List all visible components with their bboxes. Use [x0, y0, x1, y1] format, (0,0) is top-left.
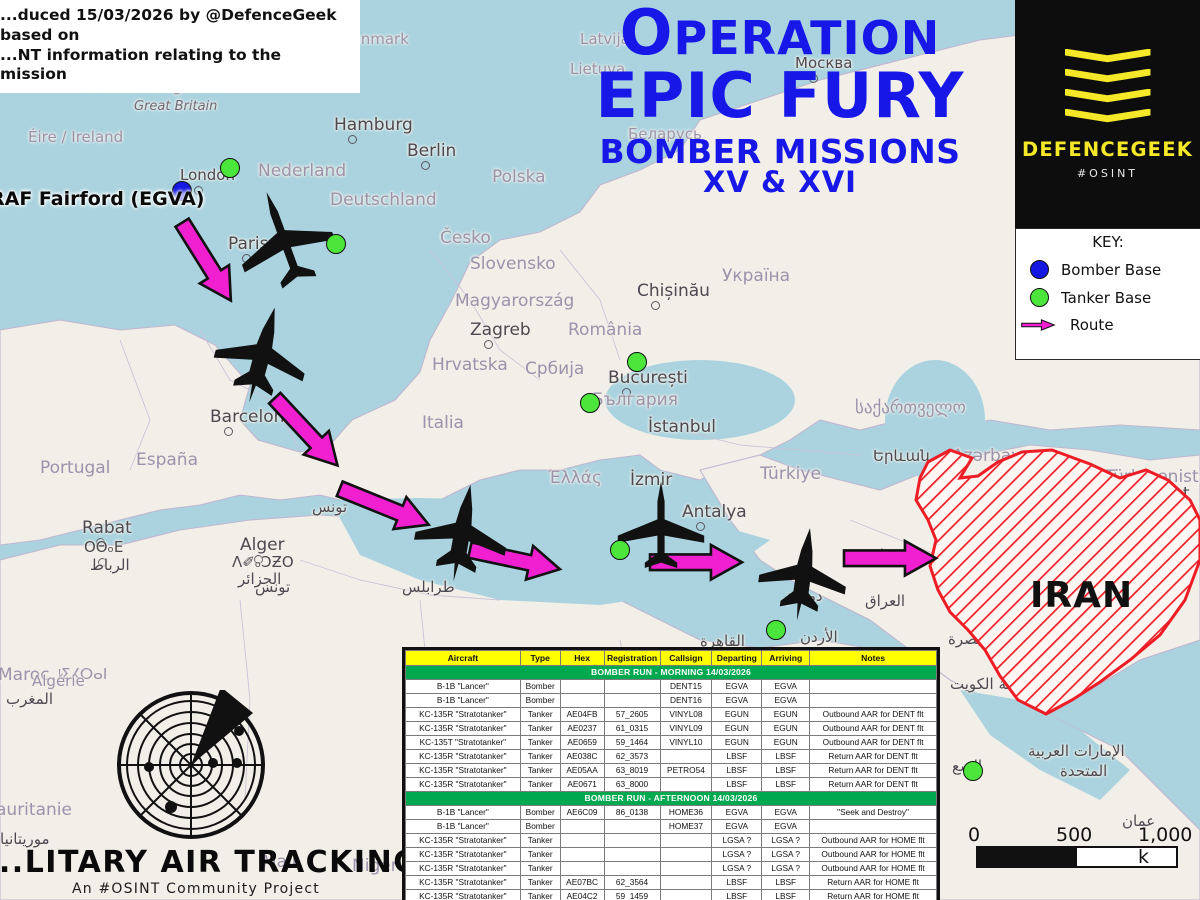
table-row[interactable]: KC-135T "Stratotanker"TankerAE065959_146… [406, 736, 937, 750]
table-cell [560, 680, 604, 694]
table-header-row: AircraftTypeHexRegistrationCallsignDepar… [406, 651, 937, 666]
table-cell: LBSF [712, 750, 762, 764]
table-cell: 62_3573 [604, 750, 660, 764]
table-cell: KC-135R "Stratotanker" [406, 778, 521, 792]
table-cell: Bomber [520, 806, 560, 820]
table-cell: LBSF [762, 890, 810, 900]
chevron-icon [1065, 69, 1151, 84]
table-cell: Tanker [520, 736, 560, 750]
tanker-base-marker[interactable] [627, 352, 647, 372]
table-col-header: Aircraft [406, 651, 521, 666]
table-cell: KC-135T "Stratotanker" [406, 736, 521, 750]
table-row[interactable]: KC-135R "Stratotanker"TankerAE04FB57_260… [406, 708, 937, 722]
mata-banner: ...LITARY AIR TRACKING ALLIANCE An #OSIN… [0, 845, 406, 897]
key-item-label: Tanker Base [1061, 289, 1151, 307]
table-cell: KC-135R "Stratotanker" [406, 750, 521, 764]
table-cell: Bomber [520, 820, 560, 834]
page-title: OPERATION EPIC FURY BOMBER MISSIONS XV &… [520, 4, 1040, 197]
table-cell [604, 834, 660, 848]
table-cell: Outbound AAR for DENT flt [810, 736, 937, 750]
scale-bar-filled [978, 848, 1077, 866]
table-cell: EGVA [762, 680, 810, 694]
table-cell: LBSF [712, 778, 762, 792]
table-cell: LBSF [712, 876, 762, 890]
map-key: KEY: Bomber BaseTanker BaseRoute [1015, 228, 1200, 360]
table-cell: 57_2605 [604, 708, 660, 722]
scale-tick-0: 0 [968, 824, 980, 846]
table-cell: Tanker [520, 862, 560, 876]
mission-table-wrapper[interactable]: AircraftTypeHexRegistrationCallsignDepar… [402, 647, 940, 900]
table-cell: AE038C [560, 750, 604, 764]
table-cell: Tanker [520, 848, 560, 862]
raf-fairford-label: RAF Fairford (EGVA) [0, 188, 204, 210]
table-cell [660, 862, 712, 876]
table-cell [604, 848, 660, 862]
table-cell: AE04C2 [560, 890, 604, 900]
table-cell: Tanker [520, 890, 560, 900]
table-cell: Return AAR for HOME flt [810, 876, 937, 890]
table-cell: B-1B "Lancer" [406, 694, 521, 708]
title-line-1-rest: PERATION [674, 11, 941, 65]
key-item-3: Route [1030, 316, 1200, 334]
table-cell: EGUN [712, 708, 762, 722]
table-cell: 62_3564 [604, 876, 660, 890]
tanker-aircraft-icon [616, 478, 706, 577]
table-row[interactable]: B-1B "Lancer"BomberDENT16EGVAEGVA [406, 694, 937, 708]
table-cell [810, 694, 937, 708]
table-cell: Bomber [520, 680, 560, 694]
table-cell [560, 820, 604, 834]
table-cell: LGSA ? [712, 848, 762, 862]
title-line-1: OPERATION [520, 4, 1040, 63]
table-cell: EGUN [762, 736, 810, 750]
table-cell: 59_1464 [604, 736, 660, 750]
scale-tick-2: 1,000 k [1138, 824, 1200, 868]
key-item-1: Bomber Base [1030, 260, 1200, 279]
table-row[interactable]: KC-135R "Stratotanker"TankerLGSA ?LGSA ?… [406, 848, 937, 862]
credit-line-2: ...NT information relating to the missio… [0, 46, 352, 86]
table-cell [810, 680, 937, 694]
table-cell [560, 834, 604, 848]
table-cell [660, 876, 712, 890]
chevron-icon [1065, 49, 1151, 64]
radar-scope-icon [96, 690, 286, 840]
table-cell: LBSF [762, 764, 810, 778]
key-item-label: Bomber Base [1061, 261, 1161, 279]
table-cell: B-1B "Lancer" [406, 806, 521, 820]
scale-tick-1: 500 [1056, 824, 1092, 846]
table-cell: "Seek and Destroy" [810, 806, 937, 820]
table-cell: LBSF [712, 764, 762, 778]
table-cell: LBSF [762, 778, 810, 792]
tanker-base-marker[interactable] [766, 620, 786, 640]
table-cell: EGUN [712, 736, 762, 750]
key-item-label: Route [1070, 316, 1114, 334]
table-cell: Tanker [520, 778, 560, 792]
table-col-header: Hex [560, 651, 604, 666]
table-cell: KC-135R "Stratotanker" [406, 764, 521, 778]
logo-sub-text: #OSINT [1077, 167, 1138, 180]
title-line-4: XV & XVI [520, 169, 1040, 197]
bomber-aircraft-icon [403, 470, 521, 596]
table-cell: Tanker [520, 876, 560, 890]
route-arrow-icon [1018, 319, 1058, 331]
table-cell: Outbound AAR for HOME flt [810, 834, 937, 848]
iran-country-label: IRAN [1030, 575, 1133, 616]
table-cell: Tanker [520, 708, 560, 722]
table-cell: 86_0138 [604, 806, 660, 820]
table-cell: KC-135R "Stratotanker" [406, 862, 521, 876]
table-cell: Outbound AAR for DENT flt [810, 708, 937, 722]
table-cell: VINYL10 [660, 736, 712, 750]
table-cell: LBSF [762, 750, 810, 764]
table-cell [604, 680, 660, 694]
mata-subtitle: An #OSINT Community Project [72, 881, 406, 897]
table-cell: 61_0315 [604, 722, 660, 736]
table-cell: AE07BC [560, 876, 604, 890]
table-row[interactable]: B-1B "Lancer"BomberAE6C0986_0138HOME36EG… [406, 806, 937, 820]
table-row[interactable]: B-1B "Lancer"BomberDENT15EGVAEGVA [406, 680, 937, 694]
title-line-3: BOMBER MISSIONS [520, 136, 1040, 167]
table-cell: LBSF [762, 876, 810, 890]
table-cell [660, 890, 712, 900]
table-cell [604, 694, 660, 708]
table-cell [810, 820, 937, 834]
bomber-base-dot-icon [1030, 260, 1049, 279]
table-cell: KC-135R "Stratotanker" [406, 834, 521, 848]
credit-line-1: ...duced 15/03/2026 by @DefenceGeek base… [0, 6, 352, 46]
table-cell [560, 694, 604, 708]
table-cell: LGSA ? [762, 862, 810, 876]
table-cell [660, 750, 712, 764]
table-row[interactable]: KC-135R "Stratotanker"TankerAE05AA63_801… [406, 764, 937, 778]
tanker-base-dot-icon [1030, 288, 1049, 307]
table-section-header-row: BOMBER RUN - AFTERNOON 14/03/2026 [406, 792, 937, 806]
table-cell: LGSA ? [712, 834, 762, 848]
infographic-root: Éire / IrelandUnited KingdomGreat Britai… [0, 0, 1200, 900]
table-row[interactable]: KC-135R "Stratotanker"TankerAE07BC62_356… [406, 876, 937, 890]
table-cell: Return AAR for HOME flt [810, 890, 937, 900]
table-cell: Tanker [520, 722, 560, 736]
table-section-title: BOMBER RUN - AFTERNOON 14/03/2026 [406, 792, 937, 806]
table-col-header: Arriving [762, 651, 810, 666]
table-row[interactable]: KC-135R "Stratotanker"TankerAE038C62_357… [406, 750, 937, 764]
table-row[interactable]: KC-135R "Stratotanker"TankerLGSA ?LGSA ?… [406, 834, 937, 848]
table-cell: EGVA [712, 806, 762, 820]
tanker-base-marker[interactable] [220, 158, 240, 178]
key-rows: Bomber BaseTanker BaseRoute [1016, 260, 1200, 334]
table-cell: KC-135R "Stratotanker" [406, 876, 521, 890]
table-cell: EGUN [712, 722, 762, 736]
scale-ticks: 0 500 1,000 k [950, 824, 1200, 846]
table-row[interactable]: KC-135R "Stratotanker"TankerAE067163_800… [406, 778, 937, 792]
table-cell: 59_1459 [604, 890, 660, 900]
table-col-header: Departing [712, 651, 762, 666]
table-cell: KC-135R "Stratotanker" [406, 890, 521, 900]
table-cell: DENT15 [660, 680, 712, 694]
table-cell: VINYL09 [660, 722, 712, 736]
table-cell: EGVA [712, 820, 762, 834]
table-cell: HOME36 [660, 806, 712, 820]
table-section-title: BOMBER RUN - MORNING 14/03/2026 [406, 666, 937, 680]
table-col-header: Notes [810, 651, 937, 666]
table-cell: Return AAR for DENT flt [810, 750, 937, 764]
table-cell: Outbound AAR for DENT flt [810, 722, 937, 736]
table-cell: AE0237 [560, 722, 604, 736]
table-cell: EGUN [762, 708, 810, 722]
table-row[interactable]: KC-135R "Stratotanker"TankerAE023761_031… [406, 722, 937, 736]
table-cell: 63_8019 [604, 764, 660, 778]
chevron-icon [1065, 109, 1151, 124]
logo-brand-text: DEFENCEGEEK [1022, 138, 1193, 161]
table-cell: LGSA ? [762, 834, 810, 848]
mission-table-body: BOMBER RUN - MORNING 14/03/2026B-1B "Lan… [406, 666, 937, 900]
table-cell: AE0671 [560, 778, 604, 792]
key-item-2: Tanker Base [1030, 288, 1200, 307]
tanker-base-marker[interactable] [610, 540, 630, 560]
table-cell: B-1B "Lancer" [406, 680, 521, 694]
table-cell: VINYL08 [660, 708, 712, 722]
table-cell: Bomber [520, 694, 560, 708]
tanker-base-marker[interactable] [580, 393, 600, 413]
table-cell: AE6C09 [560, 806, 604, 820]
table-cell: EGVA [712, 694, 762, 708]
table-cell: EGVA [762, 820, 810, 834]
table-cell: LGSA ? [762, 848, 810, 862]
table-cell [660, 834, 712, 848]
table-cell [560, 848, 604, 862]
table-cell [604, 862, 660, 876]
chevron-icon [1065, 89, 1151, 104]
table-cell: Tanker [520, 750, 560, 764]
key-title: KEY: [1016, 233, 1200, 251]
table-cell [560, 862, 604, 876]
table-cell: EGUN [762, 722, 810, 736]
table-row[interactable]: KC-135R "Stratotanker"TankerAE04C259_145… [406, 890, 937, 900]
table-cell: 63_8000 [604, 778, 660, 792]
table-cell: PETRO54 [660, 764, 712, 778]
table-row[interactable]: KC-135R "Stratotanker"TankerLGSA ?LGSA ?… [406, 862, 937, 876]
table-cell: AE04FB [560, 708, 604, 722]
table-cell: Return AAR for DENT flt [810, 778, 937, 792]
table-cell: AE05AA [560, 764, 604, 778]
table-cell: LGSA ? [712, 862, 762, 876]
table-cell [660, 848, 712, 862]
table-cell: HOME37 [660, 820, 712, 834]
table-cell [660, 778, 712, 792]
credit-banner: ...duced 15/03/2026 by @DefenceGeek base… [0, 0, 360, 93]
tanker-base-marker[interactable] [326, 234, 346, 254]
table-cell: KC-135R "Stratotanker" [406, 708, 521, 722]
table-cell: DENT16 [660, 694, 712, 708]
table-cell: Tanker [520, 764, 560, 778]
tanker-base-marker[interactable] [963, 761, 983, 781]
table-cell: AE0659 [560, 736, 604, 750]
defencegeek-logo: DEFENCEGEEK #OSINT [1015, 0, 1200, 228]
table-cell: KC-135R "Stratotanker" [406, 722, 521, 736]
mission-table-head: AircraftTypeHexRegistrationCallsignDepar… [406, 651, 937, 666]
table-col-header: Type [520, 651, 560, 666]
mata-title: ...LITARY AIR TRACKING ALLIANCE [0, 845, 406, 880]
table-cell: LBSF [712, 890, 762, 900]
table-cell: B-1B "Lancer" [406, 820, 521, 834]
table-cell: Outbound AAR for HOME flt [810, 848, 937, 862]
table-cell: Return AAR for DENT flt [810, 764, 937, 778]
map-scale-bar: 0 500 1,000 k [950, 824, 1200, 868]
table-cell: EGVA [712, 680, 762, 694]
table-cell [604, 820, 660, 834]
mission-table: AircraftTypeHexRegistrationCallsignDepar… [405, 650, 937, 900]
title-line-2: EPIC FURY [520, 67, 1040, 126]
table-cell: KC-135R "Stratotanker" [406, 848, 521, 862]
table-row[interactable]: B-1B "Lancer"BomberHOME37EGVAEGVA [406, 820, 937, 834]
table-cell: Outbound AAR for HOME flt [810, 862, 937, 876]
table-cell: EGVA [762, 806, 810, 820]
table-col-header: Registration [604, 651, 660, 666]
table-col-header: Callsign [660, 651, 712, 666]
table-cell: EGVA [762, 694, 810, 708]
table-section-header-row: BOMBER RUN - MORNING 14/03/2026 [406, 666, 937, 680]
table-cell: Tanker [520, 834, 560, 848]
bomber-aircraft-icon [749, 516, 858, 633]
